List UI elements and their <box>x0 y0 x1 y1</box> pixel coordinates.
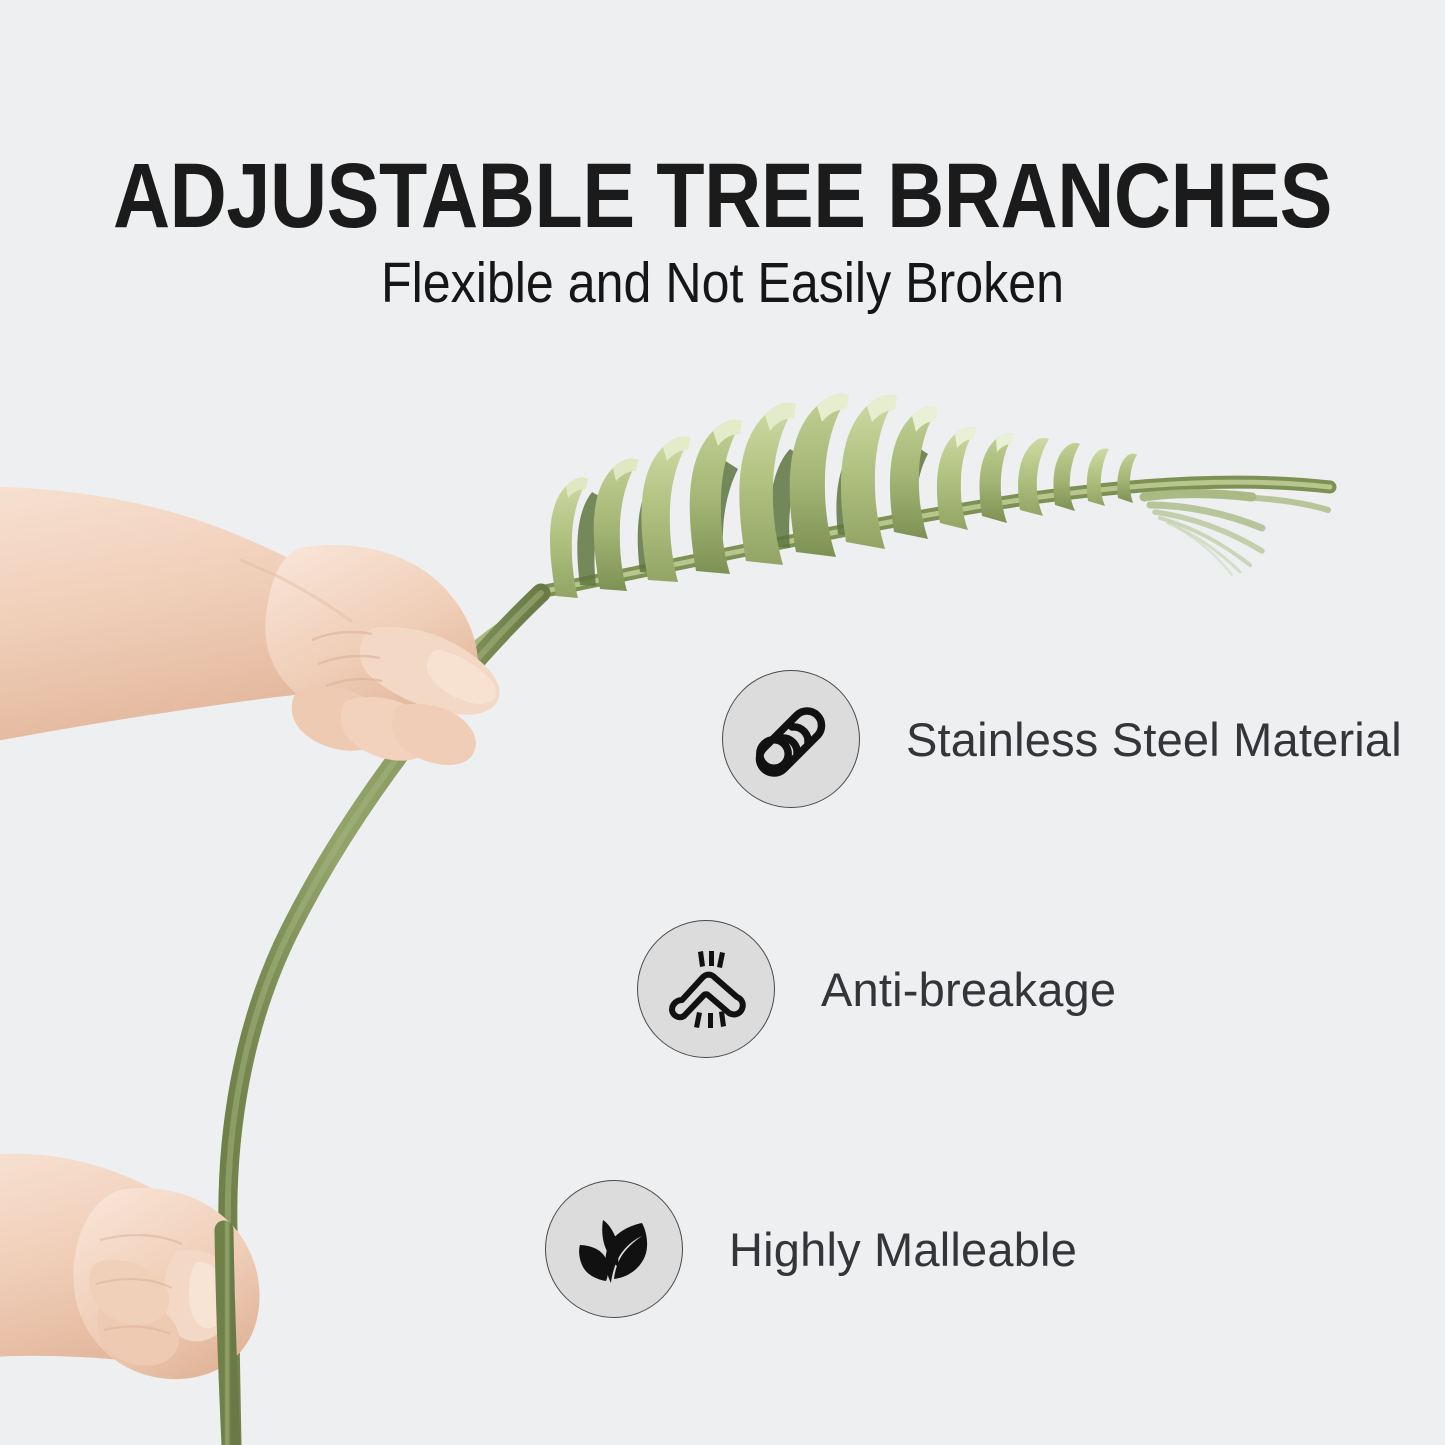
lower-hand-grip <box>0 1154 260 1379</box>
stem-foreground-segment <box>224 1230 231 1445</box>
product-infographic: ADJUSTABLE TREE BRANCHES Flexible and No… <box>0 0 1445 1445</box>
feature-label-3: Highly Malleable <box>729 1222 1077 1277</box>
page-title: ADJUSTABLE TREE BRANCHES <box>101 0 1344 240</box>
leaves-icon <box>570 1205 658 1293</box>
upper-hand-grip <box>0 487 500 765</box>
feature-label-2: Anti-breakage <box>821 962 1116 1017</box>
feature-badge-3 <box>545 1180 683 1318</box>
feature-item-anti-breakage: Anti-breakage <box>637 920 1116 1058</box>
steel-rod-icon <box>745 693 837 785</box>
feature-label-1: Stainless Steel Material <box>906 712 1402 767</box>
bendable-stem <box>228 593 541 1445</box>
frond-leaflets <box>550 394 1328 598</box>
header: ADJUSTABLE TREE BRANCHES Flexible and No… <box>0 0 1445 314</box>
bent-rod-impact-icon <box>659 942 753 1036</box>
feature-item-stainless-steel: Stainless Steel Material <box>722 670 1402 808</box>
feature-item-highly-malleable: Highly Malleable <box>545 1180 1077 1318</box>
palm-frond <box>462 394 1330 652</box>
feature-badge-2 <box>637 920 775 1058</box>
feature-badge-1 <box>722 670 860 808</box>
page-subtitle: Flexible and Not Easily Broken <box>87 240 1359 314</box>
